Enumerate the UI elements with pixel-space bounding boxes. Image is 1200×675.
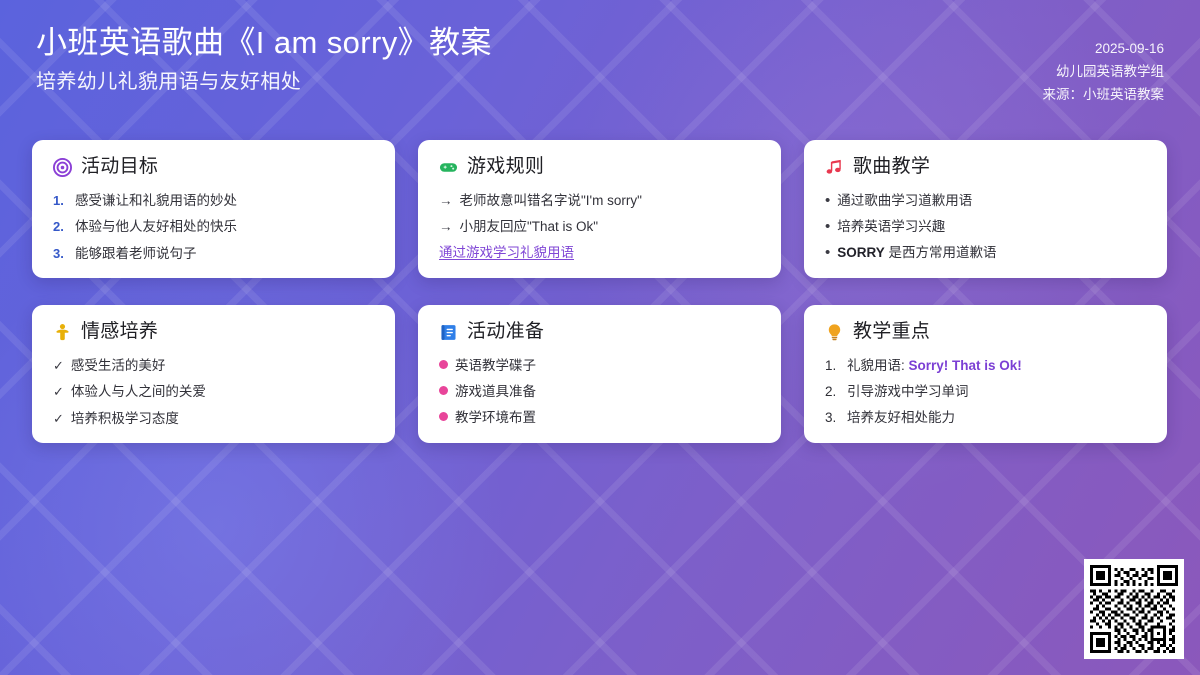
list-item: 3. 能够跟着老师说句子 — [53, 244, 374, 263]
list-item: 1. 礼貌用语: Sorry! That is Ok! — [825, 356, 1146, 375]
bullet-dot-icon — [439, 386, 448, 395]
list-item: ✓ 感受生活的美好 — [53, 356, 374, 375]
list-item: 2. 引导游戏中学习单词 — [825, 382, 1146, 401]
list-item: 2. 体验与他人友好相处的快乐 — [53, 217, 374, 236]
list-marker: → — [439, 217, 453, 236]
card-list: 1. 礼貌用语: Sorry! That is Ok! 2. 引导游戏中学习单词… — [825, 356, 1146, 427]
card-song-teaching[interactable]: 歌曲教学 • 通过歌曲学习道歉用语 • 培养英语学习兴趣 • SORRY 是西方… — [804, 140, 1167, 278]
card-list: 1. 感受谦让和礼貌用语的妙处 2. 体验与他人友好相处的快乐 3. 能够跟着老… — [53, 191, 374, 263]
list-marker: 1. — [53, 192, 68, 210]
card-grid: 活动目标 1. 感受谦让和礼貌用语的妙处 2. 体验与他人友好相处的快乐 3. … — [32, 140, 1168, 443]
card-title: 活动目标 — [81, 157, 158, 178]
list-item: → 小朋友回应"That is Ok" — [439, 217, 760, 236]
card-list: • 通过歌曲学习道歉用语 • 培养英语学习兴趣 • SORRY 是西方常用道歉语 — [825, 191, 1146, 262]
list-text: 感受生活的美好 — [71, 356, 166, 375]
card-teaching-focus[interactable]: 教学重点 1. 礼貌用语: Sorry! That is Ok! 2. 引导游戏… — [804, 305, 1167, 443]
card-activity-goals[interactable]: 活动目标 1. 感受谦让和礼貌用语的妙处 2. 体验与他人友好相处的快乐 3. … — [32, 140, 395, 278]
check-icon: ✓ — [53, 357, 64, 375]
list-text: 体验人与人之间的关爱 — [71, 382, 206, 401]
list-marker: 3. — [53, 245, 68, 263]
list-item-link[interactable]: 通过游戏学习礼貌用语 — [439, 243, 760, 262]
card-list: → 老师故意叫错名字说"I'm sorry" → 小朋友回应"That is O… — [439, 191, 760, 262]
card-title: 歌曲教学 — [853, 157, 930, 178]
page-subtitle: 培养幼儿礼貌用语与友好相处 — [36, 70, 492, 95]
card-list: 英语教学碟子 游戏道具准备 教学环境布置 — [439, 356, 760, 427]
card-game-rules[interactable]: 游戏规则 → 老师故意叫错名字说"I'm sorry" → 小朋友回应"That… — [418, 140, 781, 278]
list-item: 教学环境布置 — [439, 408, 760, 427]
slide-canvas: 小班英语歌曲《I am sorry》教案 培养幼儿礼貌用语与友好相处 2025-… — [0, 0, 1200, 675]
card-header: 歌曲教学 — [825, 157, 1146, 178]
list-text-prefix: 礼貌用语: — [847, 358, 909, 373]
book-icon — [439, 323, 458, 342]
list-text: 培养英语学习兴趣 — [837, 217, 945, 236]
list-item: • 通过歌曲学习道歉用语 — [825, 191, 1146, 210]
header-source: 来源：小班英语教案 — [1043, 83, 1165, 106]
list-text: 感受谦让和礼貌用语的妙处 — [75, 191, 237, 210]
list-item: • SORRY 是西方常用道歉语 — [825, 243, 1146, 262]
bullet-dot-icon — [439, 412, 448, 421]
header-organization: 幼儿园英语教学组 — [1043, 60, 1165, 83]
list-item: 游戏道具准备 — [439, 382, 760, 401]
card-header: 情感培养 — [53, 322, 374, 343]
list-text-rest: 是西方常用道歉语 — [885, 245, 997, 260]
list-text: 老师故意叫错名字说"I'm sorry" — [460, 191, 642, 210]
inline-link[interactable]: 通过游戏学习礼貌用语 — [439, 243, 574, 262]
list-text: 小朋友回应"That is Ok" — [460, 217, 599, 236]
list-item: • 培养英语学习兴趣 — [825, 217, 1146, 236]
card-title: 活动准备 — [467, 322, 544, 343]
list-text: 能够跟着老师说句子 — [75, 244, 197, 263]
card-title: 情感培养 — [81, 322, 158, 343]
list-marker: 3. — [825, 408, 840, 427]
card-header: 游戏规则 — [439, 157, 760, 178]
list-item: ✓ 体验人与人之间的关爱 — [53, 382, 374, 401]
list-text: 英语教学碟子 — [455, 356, 536, 375]
list-item: ✓ 培养积极学习态度 — [53, 409, 374, 428]
list-marker: 2. — [53, 218, 68, 236]
list-item: 1. 感受谦让和礼貌用语的妙处 — [53, 191, 374, 210]
header-meta-block: 2025-09-16 幼儿园英语教学组 来源：小班英语教案 — [1043, 22, 1165, 107]
header-title-block: 小班英语歌曲《I am sorry》教案 培养幼儿礼貌用语与友好相处 — [36, 22, 492, 95]
list-text: 游戏道具准备 — [455, 382, 536, 401]
bullet-dot-icon — [439, 360, 448, 369]
list-marker: • — [825, 219, 830, 234]
card-header: 活动目标 — [53, 157, 374, 178]
list-marker: → — [439, 191, 453, 210]
list-text: 体验与他人友好相处的快乐 — [75, 217, 237, 236]
list-text: SORRY 是西方常用道歉语 — [837, 243, 996, 262]
list-text: 礼貌用语: Sorry! That is Ok! — [847, 356, 1022, 375]
list-item: 3. 培养友好相处能力 — [825, 408, 1146, 427]
card-emotional-development[interactable]: 情感培养 ✓ 感受生活的美好 ✓ 体验人与人之间的关爱 ✓ 培养积极学习态度 — [32, 305, 395, 443]
list-text: 培养积极学习态度 — [71, 409, 179, 428]
list-item: 英语教学碟子 — [439, 356, 760, 375]
list-text: 通过歌曲学习道歉用语 — [837, 191, 972, 210]
list-item: → 老师故意叫错名字说"I'm sorry" — [439, 191, 760, 210]
person-icon — [53, 323, 72, 342]
list-text: 教学环境布置 — [455, 408, 536, 427]
qr-code-image — [1090, 565, 1178, 653]
card-header: 活动准备 — [439, 322, 760, 343]
gamepad-icon — [439, 158, 458, 177]
music-note-icon — [825, 158, 844, 177]
check-icon: ✓ — [53, 410, 64, 428]
list-marker: 2. — [825, 382, 840, 401]
lightbulb-icon — [825, 323, 844, 342]
list-marker: 1. — [825, 356, 840, 375]
card-header: 教学重点 — [825, 322, 1146, 343]
card-activity-preparation[interactable]: 活动准备 英语教学碟子 游戏道具准备 教学环境布置 — [418, 305, 781, 443]
card-title: 游戏规则 — [467, 157, 544, 178]
slide-header: 小班英语歌曲《I am sorry》教案 培养幼儿礼貌用语与友好相处 2025-… — [0, 0, 1200, 120]
list-text: 培养友好相处能力 — [847, 408, 955, 427]
target-icon — [53, 158, 72, 177]
card-list: ✓ 感受生活的美好 ✓ 体验人与人之间的关爱 ✓ 培养积极学习态度 — [53, 356, 374, 428]
header-date: 2025-09-16 — [1043, 37, 1165, 60]
emphasis-text: SORRY — [837, 245, 885, 260]
card-title: 教学重点 — [853, 322, 930, 343]
list-text: 引导游戏中学习单词 — [847, 382, 969, 401]
check-icon: ✓ — [53, 383, 64, 401]
highlight-text: Sorry! That is Ok! — [909, 358, 1022, 373]
list-marker: • — [825, 193, 830, 208]
page-title: 小班英语歌曲《I am sorry》教案 — [36, 24, 492, 61]
list-marker: • — [825, 245, 830, 260]
qr-code[interactable] — [1084, 559, 1184, 659]
